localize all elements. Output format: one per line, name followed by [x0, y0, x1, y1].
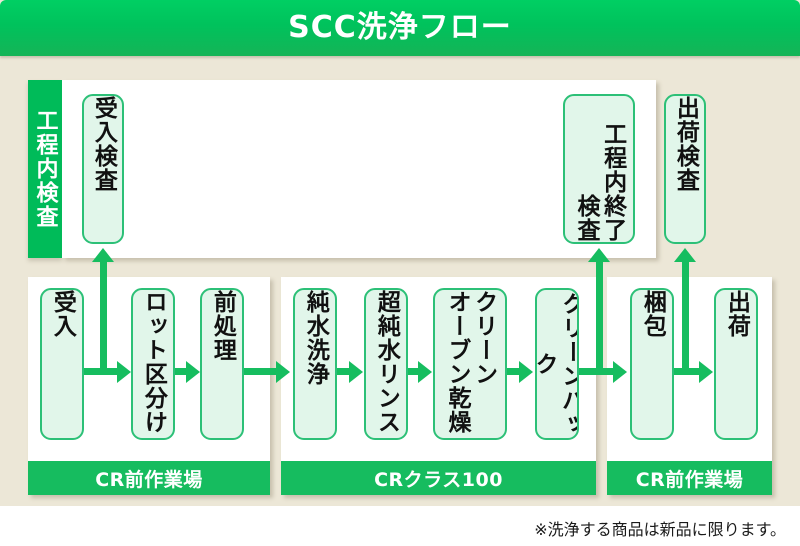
process-box-packing-text: 梱包 — [639, 290, 666, 438]
footnote: ※洗浄する商品は新品に限ります。 — [534, 516, 786, 540]
inspection-box-process-end-text-left: 検査 — [572, 96, 599, 242]
process-box-clean-oven-drying-text-right: クリーン — [470, 290, 497, 438]
process-box-pure-water-wash[interactable]: 純水洗浄 — [293, 288, 337, 440]
group-footer-cleanroom-class100: CRクラス100 — [281, 461, 596, 495]
connector-up-shipping-inspection — [682, 262, 689, 370]
inspection-box-incoming-text: 受入検査 — [90, 96, 117, 192]
arrow-oven-to-cleanpack — [519, 361, 533, 383]
group-footer-pre-cleanroom-2: CR前作業場 — [607, 461, 772, 495]
process-box-packing[interactable]: 梱包 — [630, 288, 674, 440]
process-box-ultrapure-rinse[interactable]: 超純水リンス — [364, 288, 408, 440]
inspection-box-process-end[interactable]: 工程内終了 検査 — [563, 94, 635, 244]
flow-diagram-page: SCC洗浄フロー 工程内検査 受入検査 工程内終了 検査 出荷検査 CR前作業場… — [0, 0, 800, 546]
inspection-box-shipping-text: 出荷検査 — [672, 96, 699, 192]
inprocess-inspection-label: 工程内検査 — [33, 109, 56, 229]
connector-up-process-end-inspection — [596, 262, 603, 370]
connector-up-incoming-inspection — [100, 262, 107, 370]
process-box-pre-treatment-text: 前処理 — [209, 290, 236, 438]
process-box-pure-water-wash-text: 純水洗浄 — [302, 290, 329, 386]
process-box-lot-sorting[interactable]: ロット区分け — [131, 288, 175, 440]
arrow-up-process-end-inspection — [588, 248, 610, 262]
process-box-shipping-text: 出荷 — [723, 290, 750, 438]
arrow-rinse-to-oven — [418, 361, 432, 383]
process-box-receiving[interactable]: 受入 — [40, 288, 84, 440]
page-title: SCC洗浄フロー — [288, 13, 512, 43]
process-box-clean-pack[interactable]: クリーンパック — [535, 288, 579, 440]
inspection-box-process-end-text-right: 工程内終了 — [599, 96, 626, 242]
process-box-ultrapure-rinse-text: 超純水リンス — [373, 290, 400, 434]
arrow-receiving-to-lot — [117, 361, 131, 383]
arrow-up-shipping-inspection — [674, 248, 696, 262]
arrow-lot-to-pretreatment — [186, 361, 200, 383]
process-box-clean-oven-drying[interactable]: クリーン オーブン乾燥 — [433, 288, 507, 440]
inspection-box-shipping[interactable]: 出荷検査 — [664, 94, 706, 244]
group-footer-pre-cleanroom-1: CR前作業場 — [28, 461, 270, 495]
process-box-receiving-text: 受入 — [49, 290, 76, 438]
process-box-clean-oven-drying-text-left: オーブン乾燥 — [443, 290, 470, 438]
connector-pretreatment-to-purewater — [244, 368, 278, 375]
arrow-up-incoming-inspection — [92, 248, 114, 262]
arrow-packing-to-shipping — [699, 361, 713, 383]
arrow-purewater-to-rinse — [349, 361, 363, 383]
inprocess-inspection-strip: 工程内検査 — [28, 80, 62, 258]
process-box-lot-sorting-text: ロット区分け — [140, 290, 167, 434]
inspection-box-incoming[interactable]: 受入検査 — [82, 94, 124, 244]
arrow-cleanpack-to-packing — [613, 361, 627, 383]
arrow-pretreatment-to-purewater — [276, 361, 290, 383]
process-box-pre-treatment[interactable]: 前処理 — [200, 288, 244, 440]
process-box-shipping[interactable]: 出荷 — [714, 288, 758, 440]
process-box-clean-pack-text: クリーンパック — [535, 290, 579, 438]
page-title-bar: SCC洗浄フロー — [0, 0, 800, 56]
